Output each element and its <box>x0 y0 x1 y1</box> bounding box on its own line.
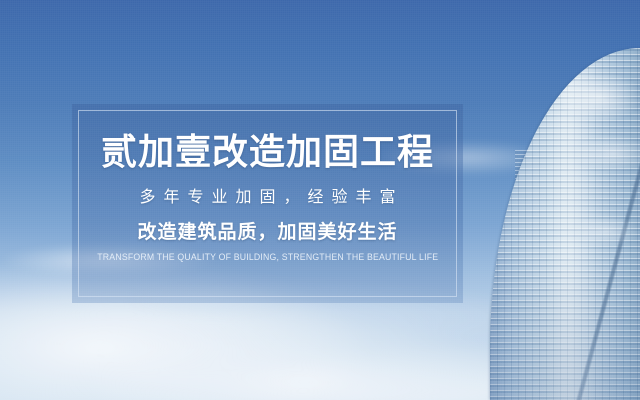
headline-panel: 贰加壹改造加固工程 多年专业加固，经验丰富 改造建筑品质，加固美好生活 TRAN… <box>72 104 463 303</box>
tower-shading <box>490 48 640 400</box>
panel-tagline-english: TRANSFORM THE QUALITY OF BUILDING, STREN… <box>97 253 438 262</box>
tower-body <box>490 48 640 400</box>
glass-skyscraper <box>490 0 640 400</box>
promo-banner: 贰加壹改造加固工程 多年专业加固，经验丰富 改造建筑品质，加固美好生活 TRAN… <box>0 0 640 400</box>
panel-subtitle: 多年专业加固，经验丰富 <box>131 190 403 206</box>
panel-content: 贰加壹改造加固工程 多年专业加固，经验丰富 改造建筑品质，加固美好生活 TRAN… <box>72 104 463 303</box>
page-title: 贰加壹改造加固工程 <box>101 134 434 170</box>
panel-tagline: 改造建筑品质，加固美好生活 <box>137 223 397 242</box>
